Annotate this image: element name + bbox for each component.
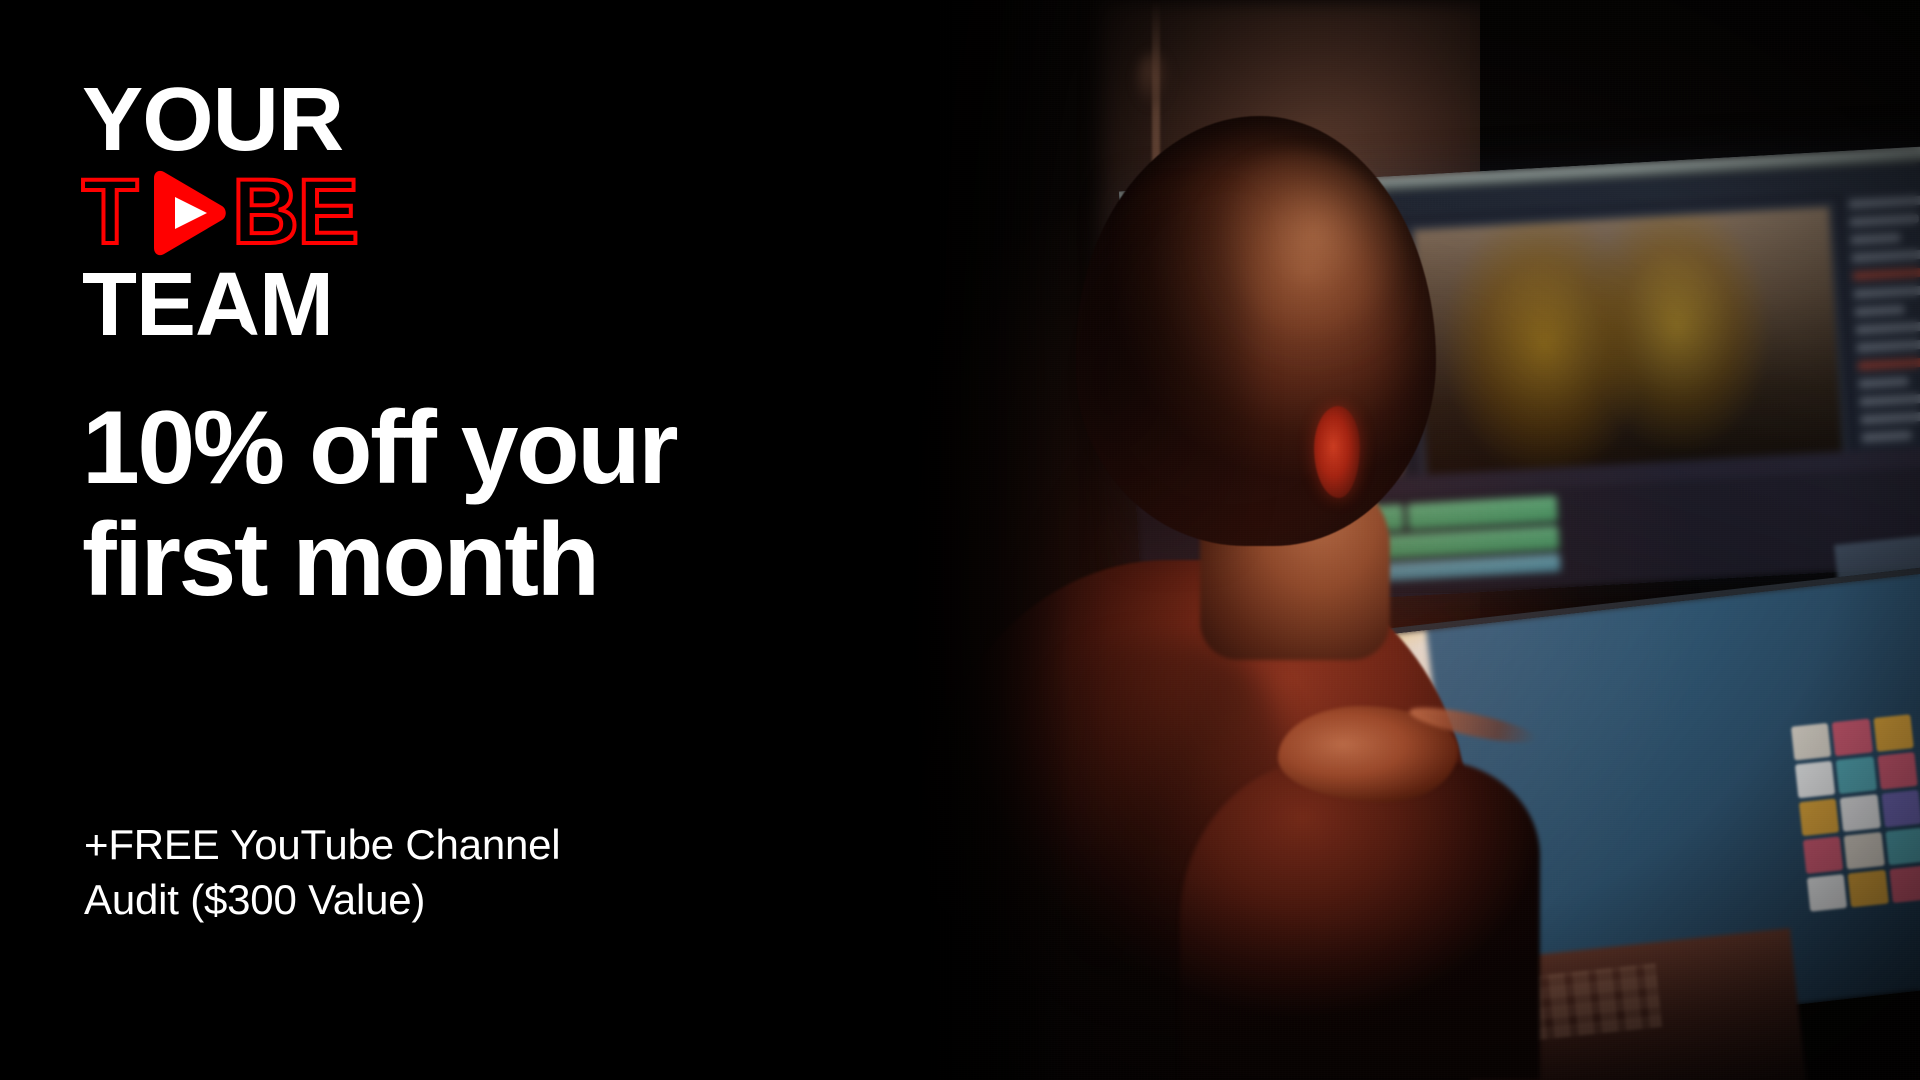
arm xyxy=(1180,760,1540,1080)
ear xyxy=(1314,406,1360,498)
house-roof-icon xyxy=(212,299,270,345)
logo-line-tube: T BE xyxy=(82,165,502,261)
logo-text-team: TEAM xyxy=(82,255,333,355)
logo-line-your: YOUR xyxy=(82,78,502,163)
logo-line-team: TEAM xyxy=(82,263,502,348)
offer-headline: 10% off your first month xyxy=(82,392,882,617)
logo-text-be: BE xyxy=(232,171,358,254)
hero-photo xyxy=(880,0,1920,1080)
subtext-line-2: Audit ($300 Value) xyxy=(84,873,724,928)
headline-line-1: 10% off your xyxy=(82,392,882,504)
logo-text-t: T xyxy=(82,171,137,254)
subtext-line-1: +FREE YouTube Channel xyxy=(84,818,724,873)
logo-text-your: YOUR xyxy=(82,78,343,163)
promo-content: YOUR T BE TEAM xyxy=(80,0,910,1080)
headline-line-2: first month xyxy=(82,504,882,616)
promo-banner: YOUR T BE TEAM xyxy=(0,0,1920,1080)
brand-logo[interactable]: YOUR T BE TEAM xyxy=(82,78,502,347)
head-shadow xyxy=(1070,200,1250,560)
person-silhouette xyxy=(880,0,1920,1080)
offer-subtext: +FREE YouTube Channel Audit ($300 Value) xyxy=(84,818,724,927)
play-triangle-icon xyxy=(138,170,230,256)
